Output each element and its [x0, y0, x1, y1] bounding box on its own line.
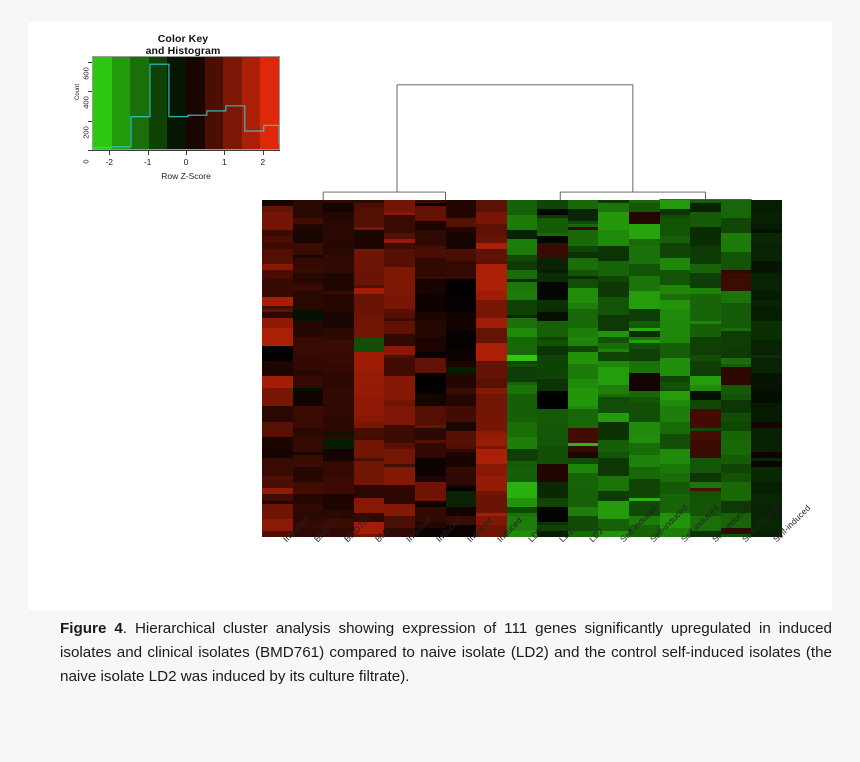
- color-key-plot: [92, 56, 280, 150]
- heatmap-cell: [384, 449, 415, 458]
- heatmap-cell: [629, 403, 660, 422]
- heatmap-cell: [384, 376, 415, 388]
- heatmap-cell: [568, 279, 599, 288]
- heatmap-column: [751, 200, 782, 537]
- heatmap-cell: [598, 422, 629, 441]
- heatmap-cell: [629, 264, 660, 276]
- heatmap-cell: [507, 449, 538, 461]
- heatmap-column: [446, 200, 477, 537]
- heatmap-cell: [598, 315, 629, 331]
- heatmap-cell: [598, 212, 629, 231]
- heatmap-cell: [721, 455, 752, 464]
- heatmap-cell: [446, 349, 477, 361]
- heatmap-cell: [293, 428, 324, 437]
- heatmap-cell: [354, 230, 385, 249]
- heatmap-cell: [446, 394, 477, 406]
- heatmap-cell: [384, 346, 415, 355]
- heatmap-column: [660, 200, 691, 537]
- heatmap-cell: [568, 230, 599, 242]
- heatmap-cell: [721, 200, 752, 219]
- heatmap-cell: [293, 230, 324, 242]
- heatmap-cell: [721, 291, 752, 303]
- heatmap-cell: [323, 239, 354, 255]
- heatmap-cell: [507, 328, 538, 337]
- heatmap-cell: [415, 279, 446, 295]
- heatmap-cell: [446, 431, 477, 447]
- heatmap-cell: [323, 476, 354, 495]
- heatmap-cell: [293, 467, 324, 479]
- heatmap-column: [415, 200, 446, 537]
- heatmap-cell: [751, 212, 782, 224]
- heatmap-cell: [660, 358, 691, 377]
- heatmap-cell: [568, 464, 599, 473]
- heatmap-cell: [690, 473, 721, 482]
- heatmap-cell: [323, 388, 354, 397]
- heatmap-cell: [660, 258, 691, 270]
- heatmap-cell: [629, 291, 660, 310]
- heatmap-cell: [537, 300, 568, 309]
- heatmap-cell: [384, 215, 415, 231]
- heatmap-cell: [537, 425, 568, 434]
- heatmap-cell: [598, 297, 629, 316]
- heatmap-cell: [476, 464, 507, 476]
- heatmap-cell: [476, 413, 507, 432]
- color-key-y-axis-title: Count: [75, 84, 81, 100]
- heatmap-cell: [476, 476, 507, 492]
- heatmap-cell: [537, 200, 568, 209]
- heatmap-cell: [476, 434, 507, 446]
- heatmap-cell: [415, 221, 446, 230]
- heatmap-cell: [751, 434, 782, 453]
- heatmap-cell: [507, 394, 538, 410]
- heatmap-cell: [446, 249, 477, 261]
- heatmap-cell: [598, 440, 629, 452]
- heatmap-cell: [568, 258, 599, 270]
- heatmap-cell: [537, 409, 568, 425]
- column-labels: InducedBMD761BMD761BMD761InducedInducedI…: [262, 537, 822, 627]
- heatmap-cell: [354, 252, 385, 271]
- x-axis-tick-label: -1: [138, 157, 158, 167]
- heatmap-cell: [446, 233, 477, 249]
- heatmap-cell: [384, 406, 415, 425]
- heatmap-cell: [476, 224, 507, 236]
- heatmap-cell: [415, 246, 446, 258]
- heatmap-cell: [751, 403, 782, 422]
- x-axis-tick: [148, 150, 149, 155]
- heatmap-cell: [537, 258, 568, 270]
- heatmap-column: [690, 200, 721, 537]
- heatmap-cell: [476, 200, 507, 212]
- heatmap-cell: [507, 422, 538, 438]
- heatmap-cell: [507, 498, 538, 507]
- heatmap-cell: [323, 203, 354, 212]
- heatmap-cell: [476, 282, 507, 291]
- heatmap-column: [476, 200, 507, 537]
- heatmap-cell: [537, 482, 568, 498]
- heatmap-cell: [568, 388, 599, 407]
- heatmap-cell: [415, 258, 446, 277]
- heatmap-cell: [262, 212, 293, 231]
- heatmap-cell: [751, 391, 782, 403]
- heatmap-cell: [721, 331, 752, 350]
- heatmap-cell: [476, 343, 507, 362]
- heatmap-cell: [629, 373, 660, 392]
- heatmap-cell: [293, 437, 324, 453]
- heatmap-cell: [384, 358, 415, 377]
- heatmap-cell: [721, 367, 752, 386]
- heatmap-cell: [568, 507, 599, 516]
- heatmap-cell: [660, 449, 691, 465]
- heatmap-cell: [323, 294, 354, 313]
- y-axis-tick-label: 600: [82, 62, 91, 84]
- heatmap-cell: [476, 212, 507, 224]
- heatmap-column: [323, 200, 354, 537]
- heatmap-cell: [262, 479, 293, 488]
- heatmap-cell: [751, 373, 782, 392]
- heatmap-cell: [751, 494, 782, 503]
- heatmap-cell: [507, 291, 538, 300]
- heatmap-cell: [690, 294, 721, 306]
- heatmap-cell: [446, 491, 477, 507]
- heatmap-cell: [629, 422, 660, 438]
- heatmap-cell: [507, 409, 538, 421]
- heatmap-cell: [507, 385, 538, 394]
- heatmap-cell: [690, 324, 721, 336]
- heatmap-cell: [262, 328, 293, 347]
- y-axis-tick-label: 0: [82, 151, 91, 173]
- heatmap-cell: [415, 230, 446, 246]
- heatmap-cell: [751, 200, 782, 212]
- heatmap-cell: [415, 206, 446, 222]
- heatmap-cell: [354, 294, 385, 303]
- heatmap-cell: [476, 249, 507, 261]
- heatmap-cell: [507, 300, 538, 316]
- heatmap-cell: [262, 504, 293, 520]
- heatmap-cell: [507, 473, 538, 482]
- heatmap-cell: [446, 312, 477, 331]
- heatmap-cell: [415, 373, 446, 392]
- heatmap-cell: [446, 200, 477, 219]
- heatmap-cell: [660, 473, 691, 482]
- heatmap-cell: [568, 364, 599, 380]
- heatmap-cell: [446, 452, 477, 468]
- heatmap-cell: [323, 255, 354, 274]
- heatmap-cell: [446, 279, 477, 295]
- heatmap-cell: [660, 434, 691, 450]
- heatmap-cell: [293, 409, 324, 428]
- heatmap-cell: [751, 467, 782, 483]
- figure-caption: Figure 4. Hierarchical cluster analysis …: [60, 617, 832, 689]
- y-axis-tick-label: 200: [82, 121, 91, 143]
- heatmap-cell: [476, 494, 507, 513]
- heatmap-cell: [507, 318, 538, 327]
- heatmap-cell: [354, 318, 385, 337]
- heatmap-cell: [323, 397, 354, 416]
- heatmap-cell: [568, 200, 599, 209]
- heatmap-cell: [384, 334, 415, 346]
- heatmap-cell: [721, 218, 752, 234]
- heatmap-cell: [660, 464, 691, 473]
- heatmap-cell: [262, 249, 293, 265]
- heatmap-cell: [415, 482, 446, 498]
- heatmap-cell: [598, 501, 629, 520]
- heatmap-cell: [598, 282, 629, 298]
- heatmap-cell: [293, 482, 324, 494]
- heatmap-cell: [354, 337, 385, 353]
- heatmap-cell: [384, 294, 415, 310]
- heatmap-cell: [354, 270, 385, 286]
- heatmap-cell: [446, 406, 477, 422]
- heatmap-cell: [476, 449, 507, 465]
- figure-caption-label: Figure 4: [60, 620, 123, 637]
- heatmap-column: [384, 200, 415, 537]
- heatmap-cell: [537, 273, 568, 282]
- heatmap-cell: [660, 422, 691, 434]
- heatmap-cell: [507, 367, 538, 383]
- heatmap-cell: [507, 437, 538, 449]
- heatmap-cell: [415, 337, 446, 353]
- heatmap-cell: [354, 385, 385, 397]
- heatmap-cell: [598, 261, 629, 277]
- heatmap-cell: [323, 328, 354, 340]
- histogram-step-path: [93, 64, 279, 149]
- heatmap-cell: [660, 309, 691, 321]
- heatmap-cell: [629, 246, 660, 265]
- heatmap-cell: [323, 449, 354, 461]
- heatmap-cell: [690, 458, 721, 474]
- heatmap-cell: [384, 200, 415, 212]
- heatmap-cell: [507, 261, 538, 270]
- heatmap-cell: [660, 243, 691, 259]
- x-axis-tick-label: -2: [99, 157, 119, 167]
- heatmap-cell: [446, 261, 477, 280]
- heatmap-cell: [751, 321, 782, 340]
- heatmap-cell: [721, 431, 752, 440]
- heatmap-cell: [568, 379, 599, 388]
- heatmap-cell: [721, 349, 752, 358]
- heatmap-cell: [384, 388, 415, 400]
- heatmap-cell: [598, 458, 629, 477]
- heatmap-cell: [446, 218, 477, 227]
- heatmap-cell: [323, 352, 354, 364]
- figure-root: Color Key and Histogram 0200400600 Count…: [0, 0, 860, 762]
- heatmap-cell: [384, 425, 415, 444]
- heatmap-cell: [629, 443, 660, 455]
- heatmap-cell: [537, 282, 568, 301]
- heatmap-cell: [690, 440, 721, 459]
- heatmap-cell: [721, 303, 752, 312]
- heatmap-cell: [690, 391, 721, 400]
- heatmap-cell: [751, 340, 782, 356]
- heatmap-cell: [660, 482, 691, 494]
- heatmap-cell: [507, 337, 538, 356]
- heatmap-column: [507, 200, 538, 537]
- heatmap-cell: [721, 273, 752, 292]
- heatmap-cell: [751, 233, 782, 242]
- heatmap-cell: [721, 400, 752, 412]
- heatmap-cell: [354, 352, 385, 371]
- heatmap-cell: [446, 331, 477, 343]
- heatmap-cell: [721, 440, 752, 456]
- heatmap-cell: [537, 434, 568, 446]
- heatmap-cell: [507, 282, 538, 291]
- heatmap-cell: [354, 397, 385, 416]
- figure-caption-text: . Hierarchical cluster analysis showing …: [60, 620, 832, 685]
- heatmap-cell: [476, 264, 507, 283]
- heatmap-cell: [293, 291, 324, 310]
- heatmap-cell: [476, 291, 507, 300]
- heatmap-cell: [598, 367, 629, 386]
- heatmap-cell: [598, 230, 629, 246]
- heatmap-cell: [537, 355, 568, 371]
- heatmap-cell: [415, 358, 446, 374]
- figure-panel: Color Key and Histogram 0200400600 Count…: [28, 22, 832, 610]
- heatmap-cell: [537, 507, 568, 523]
- heatmap-cell: [568, 309, 599, 328]
- heatmap-cell: [293, 243, 324, 255]
- heatmap-cell: [629, 276, 660, 292]
- heatmap-cell: [323, 373, 354, 389]
- heatmap-cell: [690, 337, 721, 356]
- heatmap-cell: [507, 230, 538, 239]
- heatmap-cell: [384, 267, 415, 276]
- heatmap-cell: [384, 467, 415, 486]
- heatmap-cell: [629, 203, 660, 212]
- heatmap-cell: [446, 294, 477, 313]
- heatmap-cell: [262, 422, 293, 438]
- heatmap-cell: [721, 413, 752, 422]
- heatmap-cell: [751, 306, 782, 322]
- heatmap-cell: [598, 246, 629, 262]
- heatmap-cell: [262, 388, 293, 407]
- heatmap-cell: [690, 306, 721, 322]
- heatmap-cell: [262, 279, 293, 298]
- heatmap-cell: [537, 379, 568, 391]
- heatmap-grid: [262, 200, 782, 537]
- heatmap-cell: [690, 361, 721, 377]
- heatmap-cell: [293, 273, 324, 282]
- column-dendrogram: [262, 40, 782, 220]
- color-key-x-axis-title: Row Z-Score: [92, 171, 280, 181]
- heatmap-cell: [537, 218, 568, 234]
- heatmap-cell: [323, 416, 354, 432]
- heatmap-cell: [384, 309, 415, 318]
- heatmap-cell: [354, 370, 385, 386]
- heatmap-cell: [354, 440, 385, 459]
- heatmap-cell: [354, 209, 385, 228]
- heatmap-cell: [629, 212, 660, 224]
- heatmap-cell: [629, 361, 660, 373]
- heatmap-cell: [262, 437, 293, 449]
- heatmap-cell: [690, 376, 721, 385]
- heatmap-cell: [598, 397, 629, 406]
- heatmap-cell: [354, 485, 385, 497]
- heatmap-cell: [629, 349, 660, 361]
- heatmap-cell: [293, 376, 324, 388]
- heatmap-cell: [507, 482, 538, 498]
- heatmap-cell: [476, 328, 507, 344]
- heatmap-cell: [293, 200, 324, 219]
- heatmap-cell: [293, 309, 324, 321]
- x-axis-tick-label: 0: [176, 157, 196, 167]
- heatmap-cell: [690, 203, 721, 212]
- heatmap-cell: [293, 355, 324, 371]
- heatmap-cell: [262, 270, 293, 279]
- heatmap-cell: [721, 482, 752, 501]
- heatmap-cell: [415, 406, 446, 425]
- heatmap-cell: [537, 370, 568, 379]
- heatmap-cell: [323, 494, 354, 510]
- heatmap-cell: [323, 312, 354, 328]
- heatmap-cell: [507, 270, 538, 279]
- heatmap-cell: [507, 215, 538, 231]
- heatmap-cell: [629, 309, 660, 321]
- heatmap-cell: [568, 328, 599, 337]
- heatmap-cell: [598, 476, 629, 492]
- heatmap-cell: [660, 391, 691, 400]
- heatmap-cell: [690, 409, 721, 428]
- heatmap-column: [598, 200, 629, 537]
- color-key-x-axis: -2-1012: [92, 150, 280, 160]
- heatmap-cell: [476, 361, 507, 380]
- heatmap-cell: [690, 246, 721, 265]
- heatmap-cell: [721, 385, 752, 394]
- heatmap-cell: [354, 473, 385, 485]
- heatmap-cell: [690, 400, 721, 409]
- heatmap-cell: [660, 270, 691, 286]
- heatmap-cell: [660, 300, 691, 309]
- heatmap-cell: [293, 455, 324, 467]
- heatmap-cell: [721, 252, 752, 271]
- heatmap-cell: [415, 458, 446, 477]
- heatmap-column: [537, 200, 568, 537]
- heatmap-cell: [384, 504, 415, 516]
- heatmap-cell: [262, 346, 293, 362]
- heatmap-column: [568, 200, 599, 537]
- heatmap-cell: [690, 212, 721, 228]
- heatmap-cell: [323, 340, 354, 352]
- heatmap-cell: [629, 455, 660, 467]
- heatmap-cell: [751, 358, 782, 374]
- heatmap-cell: [354, 498, 385, 514]
- heatmap-cell: [751, 291, 782, 300]
- heatmap-cell: [721, 464, 752, 473]
- histogram-line: [93, 57, 279, 149]
- heatmap-cell: [262, 458, 293, 477]
- heatmap-cell: [415, 428, 446, 440]
- heatmap-cell: [323, 461, 354, 477]
- heatmap-cell: [446, 422, 477, 431]
- heatmap-cell: [721, 473, 752, 482]
- heatmap-cell: [660, 218, 691, 237]
- heatmap-cell: [293, 258, 324, 267]
- heatmap-column: [629, 200, 660, 537]
- x-axis-tick: [186, 150, 187, 155]
- heatmap-cell: [415, 321, 446, 337]
- heatmap-cell: [598, 352, 629, 361]
- heatmap-cell: [660, 321, 691, 340]
- heatmap-cell: [598, 413, 629, 422]
- heatmap-cell: [262, 297, 293, 306]
- heatmap-cell: [384, 485, 415, 504]
- heatmap-cell: [537, 498, 568, 507]
- heatmap-cell: [568, 409, 599, 428]
- heatmap-cell: [476, 300, 507, 319]
- heatmap-column: [262, 200, 293, 537]
- heatmap-cell: [629, 467, 660, 479]
- heatmap-cell: [415, 394, 446, 406]
- heatmap-cell: [690, 431, 721, 440]
